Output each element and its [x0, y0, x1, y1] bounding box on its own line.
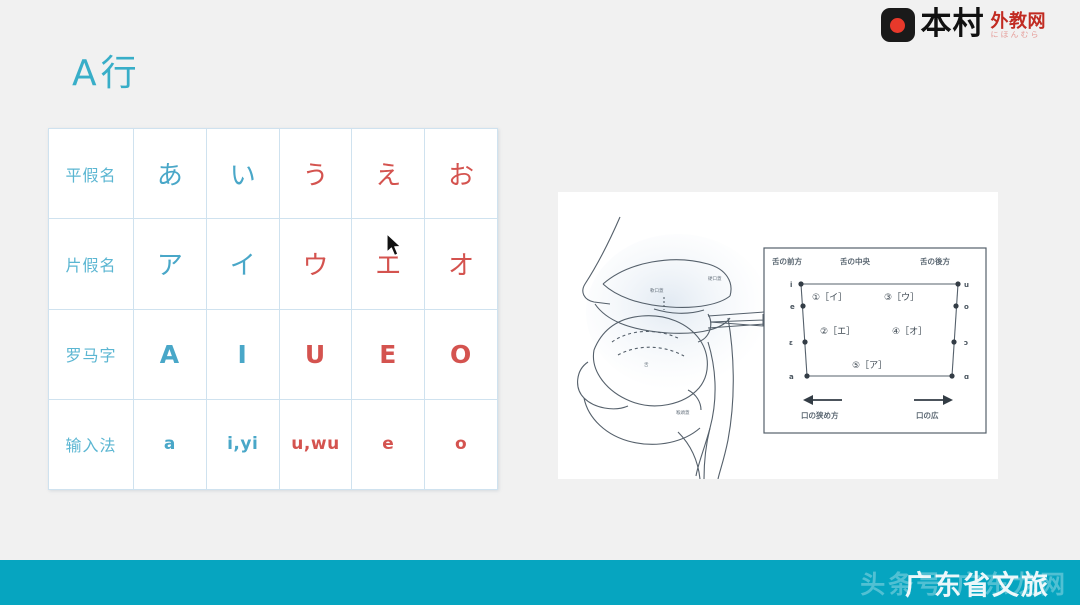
- cell-input-a[interactable]: a: [134, 399, 207, 489]
- cell-hiragana-u[interactable]: う: [279, 129, 352, 219]
- cell-katakana-o[interactable]: オ: [425, 219, 498, 309]
- cell-katakana-u[interactable]: ウ: [279, 219, 352, 309]
- axis-tick-i: i: [790, 281, 792, 289]
- vowel-point-4: ④［オ］: [892, 326, 927, 337]
- cell-katakana-e[interactable]: エ: [352, 219, 425, 309]
- watermark-front-text: 广东省文旅: [905, 563, 1050, 602]
- cell-romaji-e[interactable]: E: [352, 309, 425, 399]
- cell-input-e[interactable]: e: [352, 399, 425, 489]
- table-row: 平假名 あ い う え お: [49, 129, 498, 219]
- vowel-articulation-diagram: 軟口蓋 硬口蓋 舌 喉頭蓋 舌の前方 舌の中央 舌の後方: [558, 192, 998, 479]
- cell-input-o[interactable]: o: [425, 399, 498, 489]
- cell-input-i[interactable]: i,yi: [206, 399, 279, 489]
- watermark: 头条号 广东龙网 广东省文旅: [768, 560, 1068, 605]
- cell-romaji-o[interactable]: O: [425, 309, 498, 399]
- vowel-point-5: ⑤［ア］: [852, 360, 887, 371]
- cell-romaji-i[interactable]: I: [206, 309, 279, 399]
- page-title: A行: [72, 44, 141, 96]
- japan-flag-icon: [881, 8, 915, 42]
- table-row: 罗马字 A I U E O: [49, 309, 498, 399]
- axis-tick-o: o: [964, 303, 969, 311]
- logo-sub-text: 外教网: [991, 12, 1047, 30]
- logo-sub-group: 外教网 にほんむら: [991, 12, 1047, 39]
- axis-tick-a: a: [789, 373, 794, 381]
- chart-header-center: 舌の中央: [840, 256, 870, 266]
- chart-header-back: 舌の後方: [920, 256, 950, 266]
- kana-table: 平假名 あ い う え お 片假名 ア イ ウ エ オ 罗马字 A I U E: [48, 128, 498, 490]
- chart-header-front: 舌の前方: [772, 256, 802, 266]
- axis-tick-open-o: ɔ: [964, 339, 968, 347]
- row-label-romaji: 罗马字: [49, 309, 134, 399]
- axis-tick-alpha: ɑ: [964, 373, 969, 381]
- axis-tick-e: e: [790, 303, 795, 311]
- cell-katakana-a[interactable]: ア: [134, 219, 207, 309]
- cell-hiragana-o[interactable]: お: [425, 129, 498, 219]
- row-label-hiragana: 平假名: [49, 129, 134, 219]
- vowel-point-1: ①［イ］: [812, 292, 847, 303]
- cell-input-u[interactable]: u,wu: [279, 399, 352, 489]
- cell-romaji-a[interactable]: A: [134, 309, 207, 399]
- label-soft-palate: 軟口蓋: [650, 287, 664, 294]
- row-label-input-method: 输入法: [49, 399, 134, 489]
- label-hard-palate: 硬口蓋: [708, 275, 722, 282]
- label-tongue: 舌: [644, 361, 649, 368]
- logo-kana-text: にほんむら: [991, 31, 1047, 38]
- vowel-point-3: ③［ウ］: [884, 292, 919, 303]
- cell-katakana-i[interactable]: イ: [206, 219, 279, 309]
- vowel-point-2: ②［エ］: [820, 326, 855, 337]
- cell-hiragana-a[interactable]: あ: [134, 129, 207, 219]
- logo-brand-text: 本村: [921, 9, 985, 42]
- cell-hiragana-i[interactable]: い: [206, 129, 279, 219]
- label-epiglottis: 喉頭蓋: [676, 409, 690, 416]
- cell-romaji-u[interactable]: U: [279, 309, 352, 399]
- axis-tick-eps: ε: [789, 339, 793, 347]
- brand-logo: 本村 外教网 にほんむら: [881, 8, 1047, 42]
- table-row: 片假名 ア イ ウ エ オ: [49, 219, 498, 309]
- table-row: 输入法 a i,yi u,wu e o: [49, 399, 498, 489]
- slide-canvas: 本村 外教网 にほんむら A行 平假名 あ い う え お 片假名 ア イ ウ …: [0, 0, 1080, 560]
- arrow-label-wide: 口の広: [916, 410, 939, 420]
- cell-hiragana-e[interactable]: え: [352, 129, 425, 219]
- axis-tick-u: u: [964, 281, 969, 289]
- arrow-label-narrow: 口の狭め方: [801, 410, 839, 420]
- row-label-katakana: 片假名: [49, 219, 134, 309]
